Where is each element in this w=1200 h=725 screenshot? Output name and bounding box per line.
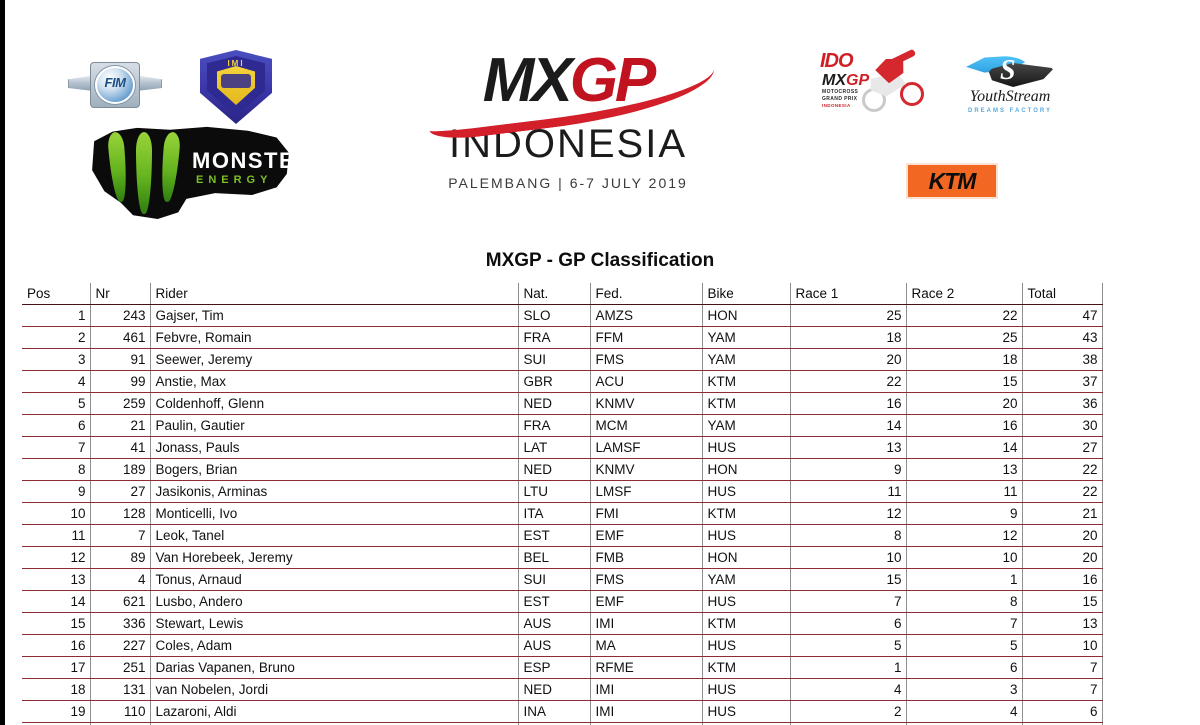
cell-bike: HON: [702, 305, 790, 327]
cell-rider: Bogers, Brian: [150, 459, 518, 481]
cell-race1: 9: [790, 459, 906, 481]
cell-nat: NED: [518, 393, 590, 415]
cell-race1: 13: [790, 437, 906, 459]
table-row: 2461Febvre, RomainFRAFFMYAM182543: [22, 327, 1102, 349]
cell-bike: KTM: [702, 503, 790, 525]
cell-rider: Van Horebeek, Jeremy: [150, 547, 518, 569]
cell-pos: 10: [22, 503, 90, 525]
cell-race1: 6: [790, 613, 906, 635]
cell-fed: MA: [590, 635, 702, 657]
table-row: 18131van Nobelen, JordiNEDIMIHUS437: [22, 679, 1102, 701]
youthstream-tagline: DREAMS FACTORY: [958, 108, 1062, 114]
table-row: 117Leok, TanelESTEMFHUS81220: [22, 525, 1102, 547]
event-subtitle-3: INDONESIA: [822, 103, 851, 108]
cell-rider: Coldenhoff, Glenn: [150, 393, 518, 415]
cell-race2: 15: [906, 371, 1022, 393]
cell-rider: Febvre, Romain: [150, 327, 518, 349]
cell-pos: 19: [22, 701, 90, 723]
cell-pos: 15: [22, 613, 90, 635]
mxgp-indonesia-event-logo: IDO MXGP MOTOCROSS GRAND PRIX INDONESIA: [818, 48, 922, 122]
cell-total: 6: [1022, 701, 1102, 723]
cell-pos: 14: [22, 591, 90, 613]
event-mx-text: MX: [822, 72, 846, 89]
cell-pos: 4: [22, 371, 90, 393]
table-row: 621Paulin, GautierFRAMCMYAM141630: [22, 415, 1102, 437]
cell-nr: 110: [90, 701, 150, 723]
cell-rider: Anstie, Max: [150, 371, 518, 393]
cell-bike: YAM: [702, 569, 790, 591]
cell-nr: 461: [90, 327, 150, 349]
cell-rider: Monticelli, Ivo: [150, 503, 518, 525]
cell-nr: 259: [90, 393, 150, 415]
column-header-fed: Fed.: [590, 283, 702, 305]
cell-race1: 20: [790, 349, 906, 371]
table-row: 8189Bogers, BrianNEDKNMVHON91322: [22, 459, 1102, 481]
cell-nat: SUI: [518, 569, 590, 591]
ktm-wordmark: KTM: [929, 168, 976, 195]
results-sheet: FIM IMI MONSTER ENERGY MXGP INDONESIA PA…: [0, 0, 1200, 725]
cell-fed: FMB: [590, 547, 702, 569]
cell-fed: EMF: [590, 591, 702, 613]
cell-fed: AMZS: [590, 305, 702, 327]
event-country-text: INDONESIA: [418, 121, 718, 167]
cell-nr: 27: [90, 481, 150, 503]
column-header-race2: Race 2: [906, 283, 1022, 305]
table-row: 5259Coldenhoff, GlennNEDKNMVKTM162036: [22, 393, 1102, 415]
cell-pos: 3: [22, 349, 90, 371]
cell-nat: NED: [518, 459, 590, 481]
cell-pos: 11: [22, 525, 90, 547]
cell-race2: 20: [906, 393, 1022, 415]
cell-total: 47: [1022, 305, 1102, 327]
cell-total: 7: [1022, 679, 1102, 701]
cell-race2: 9: [906, 503, 1022, 525]
cell-fed: KNMV: [590, 459, 702, 481]
mxgp-mx-text: MX: [483, 46, 570, 115]
cell-total: 10: [1022, 635, 1102, 657]
column-header-total: Total: [1022, 283, 1102, 305]
cell-pos: 5: [22, 393, 90, 415]
cell-total: 21: [1022, 503, 1102, 525]
cell-bike: HUS: [702, 525, 790, 547]
cell-nr: 251: [90, 657, 150, 679]
cell-pos: 6: [22, 415, 90, 437]
cell-nat: LAT: [518, 437, 590, 459]
cell-total: 13: [1022, 613, 1102, 635]
cell-pos: 13: [22, 569, 90, 591]
event-dates-text: PALEMBANG | 6-7 JULY 2019: [418, 175, 718, 191]
cell-rider: Gajser, Tim: [150, 305, 518, 327]
cell-fed: FMS: [590, 349, 702, 371]
cell-fed: FMS: [590, 569, 702, 591]
cell-fed: LMSF: [590, 481, 702, 503]
cell-nat: ESP: [518, 657, 590, 679]
column-header-race1: Race 1: [790, 283, 906, 305]
table-row: 499Anstie, MaxGBRACUKTM221537: [22, 371, 1102, 393]
cell-bike: HUS: [702, 635, 790, 657]
cell-race1: 2: [790, 701, 906, 723]
page-title: MXGP - GP Classification: [0, 250, 1200, 272]
cell-total: 22: [1022, 481, 1102, 503]
table-row: 391Seewer, JeremySUIFMSYAM201838: [22, 349, 1102, 371]
mxgp-indonesia-logo: MXGP INDONESIA PALEMBANG | 6-7 JULY 2019: [418, 45, 718, 191]
youthstream-wordmark: YouthStream: [958, 88, 1062, 106]
cell-pos: 12: [22, 547, 90, 569]
table-row: 1289Van Horebeek, JeremyBELFMBHON101020: [22, 547, 1102, 569]
cell-total: 38: [1022, 349, 1102, 371]
cell-race1: 15: [790, 569, 906, 591]
sponsor-header: FIM IMI MONSTER ENERGY MXGP INDONESIA PA…: [0, 0, 1200, 240]
cell-race2: 10: [906, 547, 1022, 569]
cell-total: 7: [1022, 657, 1102, 679]
mxgp-wordmark: MXGP: [418, 45, 718, 117]
column-header-pos: Pos: [22, 283, 90, 305]
cell-nat: INA: [518, 701, 590, 723]
table-row: 15336Stewart, LewisAUSIMIKTM6713: [22, 613, 1102, 635]
cell-total: 27: [1022, 437, 1102, 459]
column-header-nat: Nat.: [518, 283, 590, 305]
table-row: 16227Coles, AdamAUSMAHUS5510: [22, 635, 1102, 657]
cell-race1: 14: [790, 415, 906, 437]
youthstream-s-mark: S: [1000, 55, 1016, 87]
cell-nr: 227: [90, 635, 150, 657]
cell-rider: Lazaroni, Aldi: [150, 701, 518, 723]
cell-race1: 1: [790, 657, 906, 679]
cell-bike: YAM: [702, 349, 790, 371]
cell-total: 30: [1022, 415, 1102, 437]
cell-total: 15: [1022, 591, 1102, 613]
cell-race2: 5: [906, 635, 1022, 657]
cell-total: 16: [1022, 569, 1102, 591]
cell-nat: FRA: [518, 415, 590, 437]
cell-fed: MCM: [590, 415, 702, 437]
ktm-logo: KTM: [906, 163, 998, 199]
cell-nat: ITA: [518, 503, 590, 525]
monster-energy-subtext: ENERGY: [196, 174, 272, 186]
cell-nat: FRA: [518, 327, 590, 349]
cell-fed: IMI: [590, 679, 702, 701]
mxgp-gp-text: GP: [570, 46, 654, 115]
cell-bike: KTM: [702, 657, 790, 679]
cell-pos: 7: [22, 437, 90, 459]
cell-nat: GBR: [518, 371, 590, 393]
cell-race2: 6: [906, 657, 1022, 679]
table-row: 17251Darias Vapanen, BrunoESPRFMEKTM167: [22, 657, 1102, 679]
cell-fed: FMI: [590, 503, 702, 525]
cell-pos: 9: [22, 481, 90, 503]
cell-race1: 10: [790, 547, 906, 569]
youthstream-swoosh-icon: S: [966, 54, 1054, 88]
cell-race2: 7: [906, 613, 1022, 635]
imi-federation-shield: IMI: [200, 50, 272, 124]
cell-bike: HUS: [702, 679, 790, 701]
cell-rider: van Nobelen, Jordi: [150, 679, 518, 701]
cell-race1: 16: [790, 393, 906, 415]
cell-fed: EMF: [590, 525, 702, 547]
cell-race2: 25: [906, 327, 1022, 349]
monster-energy-logo: MONSTER ENERGY: [88, 124, 293, 220]
cell-fed: LAMSF: [590, 437, 702, 459]
cell-race1: 4: [790, 679, 906, 701]
cell-pos: 17: [22, 657, 90, 679]
cell-total: 37: [1022, 371, 1102, 393]
cell-nr: 128: [90, 503, 150, 525]
cell-race2: 11: [906, 481, 1022, 503]
cell-race2: 12: [906, 525, 1022, 547]
cell-bike: HUS: [702, 591, 790, 613]
table-body: 1243Gajser, TimSLOAMZSHON2522472461Febvr…: [22, 305, 1102, 725]
cell-race1: 5: [790, 635, 906, 657]
cell-rider: Darias Vapanen, Bruno: [150, 657, 518, 679]
fim-logo: FIM: [68, 58, 162, 112]
cell-nat: BEL: [518, 547, 590, 569]
cell-rider: Jonass, Pauls: [150, 437, 518, 459]
cell-bike: KTM: [702, 371, 790, 393]
motocross-rider-icon: [860, 52, 926, 118]
cell-rider: Jasikonis, Arminas: [150, 481, 518, 503]
cell-rider: Seewer, Jeremy: [150, 349, 518, 371]
cell-bike: HON: [702, 547, 790, 569]
cell-nat: EST: [518, 591, 590, 613]
cell-race1: 7: [790, 591, 906, 613]
column-header-rider: Rider: [150, 283, 518, 305]
cell-rider: Stewart, Lewis: [150, 613, 518, 635]
cell-total: 20: [1022, 547, 1102, 569]
cell-race2: 13: [906, 459, 1022, 481]
cell-race2: 4: [906, 701, 1022, 723]
cell-nat: EST: [518, 525, 590, 547]
cell-nat: AUS: [518, 613, 590, 635]
cell-rider: Tonus, Arnaud: [150, 569, 518, 591]
cell-total: 22: [1022, 459, 1102, 481]
table-row: 19110Lazaroni, AldiINAIMIHUS246: [22, 701, 1102, 723]
table-row: 14621Lusbo, AnderoESTEMFHUS7815: [22, 591, 1102, 613]
event-ido-text: IDO: [820, 50, 853, 73]
cell-bike: HUS: [702, 481, 790, 503]
cell-nat: SLO: [518, 305, 590, 327]
cell-pos: 2: [22, 327, 90, 349]
cell-bike: HUS: [702, 701, 790, 723]
monster-wordmark: MONSTER: [192, 148, 313, 174]
cell-nr: 189: [90, 459, 150, 481]
cell-nr: 99: [90, 371, 150, 393]
cell-race1: 18: [790, 327, 906, 349]
cell-rider: Paulin, Gautier: [150, 415, 518, 437]
cell-bike: HUS: [702, 437, 790, 459]
cell-nr: 243: [90, 305, 150, 327]
table-row: 10128Monticelli, IvoITAFMIKTM12921: [22, 503, 1102, 525]
fim-logo-text: FIM: [95, 75, 135, 90]
column-header-nr: Nr: [90, 283, 150, 305]
cell-fed: RFME: [590, 657, 702, 679]
table-row: 927Jasikonis, ArminasLTULMSFHUS111122: [22, 481, 1102, 503]
cell-nr: 21: [90, 415, 150, 437]
cell-bike: KTM: [702, 613, 790, 635]
cell-fed: KNMV: [590, 393, 702, 415]
youthstream-logo: S YouthStream DREAMS FACTORY: [958, 52, 1062, 124]
cell-race1: 12: [790, 503, 906, 525]
cell-fed: IMI: [590, 613, 702, 635]
cell-nr: 41: [90, 437, 150, 459]
cell-nr: 336: [90, 613, 150, 635]
cell-bike: HON: [702, 459, 790, 481]
cell-pos: 16: [22, 635, 90, 657]
cell-fed: ACU: [590, 371, 702, 393]
gp-classification-table: Pos Nr Rider Nat. Fed. Bike Race 1 Race …: [22, 283, 1103, 725]
cell-race2: 22: [906, 305, 1022, 327]
cell-rider: Lusbo, Andero: [150, 591, 518, 613]
cell-pos: 18: [22, 679, 90, 701]
cell-nat: SUI: [518, 349, 590, 371]
cell-race2: 18: [906, 349, 1022, 371]
cell-race1: 22: [790, 371, 906, 393]
cell-rider: Leok, Tanel: [150, 525, 518, 547]
cell-bike: KTM: [702, 393, 790, 415]
table-row: 1243Gajser, TimSLOAMZSHON252247: [22, 305, 1102, 327]
cell-total: 20: [1022, 525, 1102, 547]
cell-fed: FFM: [590, 327, 702, 349]
cell-race2: 8: [906, 591, 1022, 613]
table-row: 741Jonass, PaulsLATLAMSFHUS131427: [22, 437, 1102, 459]
cell-nr: 4: [90, 569, 150, 591]
cell-fed: IMI: [590, 701, 702, 723]
cell-total: 36: [1022, 393, 1102, 415]
event-subtitle-2: GRAND PRIX: [822, 96, 857, 102]
cell-race1: 25: [790, 305, 906, 327]
cell-race2: 16: [906, 415, 1022, 437]
cell-bike: YAM: [702, 415, 790, 437]
cell-nat: LTU: [518, 481, 590, 503]
cell-total: 43: [1022, 327, 1102, 349]
results-table-container: Pos Nr Rider Nat. Fed. Bike Race 1 Race …: [22, 283, 1102, 725]
cell-race1: 8: [790, 525, 906, 547]
cell-race2: 3: [906, 679, 1022, 701]
cell-pos: 1: [22, 305, 90, 327]
cell-nr: 7: [90, 525, 150, 547]
cell-nr: 131: [90, 679, 150, 701]
cell-race2: 1: [906, 569, 1022, 591]
cell-rider: Coles, Adam: [150, 635, 518, 657]
cell-pos: 8: [22, 459, 90, 481]
event-subtitle-1: MOTOCROSS: [822, 89, 858, 95]
cell-nr: 89: [90, 547, 150, 569]
cell-nat: AUS: [518, 635, 590, 657]
cell-nr: 91: [90, 349, 150, 371]
cell-bike: YAM: [702, 327, 790, 349]
cell-race1: 11: [790, 481, 906, 503]
cell-nat: NED: [518, 679, 590, 701]
column-header-bike: Bike: [702, 283, 790, 305]
table-header-row: Pos Nr Rider Nat. Fed. Bike Race 1 Race …: [22, 283, 1102, 305]
table-row: 134Tonus, ArnaudSUIFMSYAM15116: [22, 569, 1102, 591]
cell-race2: 14: [906, 437, 1022, 459]
cell-nr: 621: [90, 591, 150, 613]
